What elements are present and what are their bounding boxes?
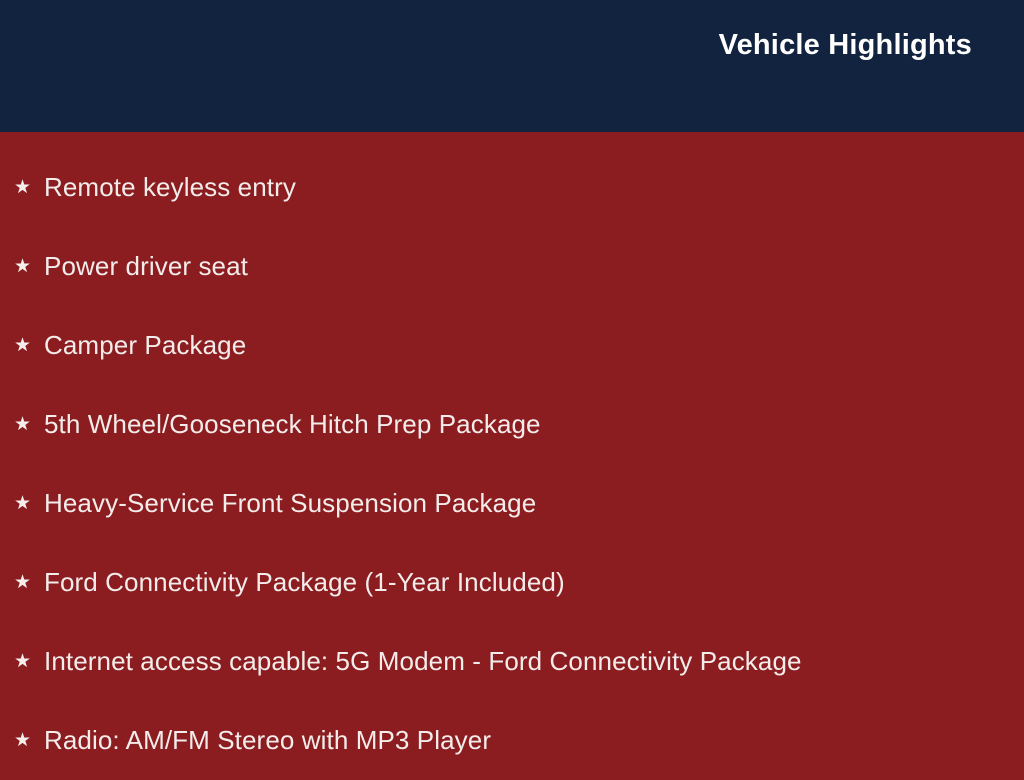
list-item: ★ Ford Connectivity Package (1-Year Incl… bbox=[0, 543, 1024, 622]
star-bullet-icon: ★ bbox=[14, 652, 44, 671]
list-item: ★ Remote keyless entry bbox=[0, 148, 1024, 227]
vehicle-highlights-slide: Vehicle Highlights ★ Remote keyless entr… bbox=[0, 0, 1024, 768]
page-title: Vehicle Highlights bbox=[719, 30, 972, 62]
star-bullet-icon: ★ bbox=[14, 336, 44, 355]
star-bullet-icon: ★ bbox=[14, 415, 44, 434]
list-item: ★ Camper Package bbox=[0, 306, 1024, 385]
star-bullet-icon: ★ bbox=[14, 257, 44, 276]
list-item-label: Camper Package bbox=[44, 331, 1024, 361]
list-item: ★ Heavy-Service Front Suspension Package bbox=[0, 464, 1024, 543]
list-item-label: Ford Connectivity Package (1-Year Includ… bbox=[44, 568, 1024, 598]
slide-body: ★ Remote keyless entry ★ Power driver se… bbox=[0, 132, 1024, 780]
list-item: ★ 5th Wheel/Gooseneck Hitch Prep Package bbox=[0, 385, 1024, 464]
slide-header: Vehicle Highlights bbox=[0, 0, 1024, 132]
list-item-label: Internet access capable: 5G Modem - Ford… bbox=[44, 647, 1024, 677]
list-item-label: Radio: AM/FM Stereo with MP3 Player bbox=[44, 726, 1024, 756]
star-bullet-icon: ★ bbox=[14, 494, 44, 513]
list-item: ★ Radio: AM/FM Stereo with MP3 Player bbox=[0, 701, 1024, 780]
list-item: ★ Internet access capable: 5G Modem - Fo… bbox=[0, 622, 1024, 701]
vehicle-highlights-list: ★ Remote keyless entry ★ Power driver se… bbox=[0, 148, 1024, 780]
list-item: ★ Power driver seat bbox=[0, 227, 1024, 306]
list-item-label: Power driver seat bbox=[44, 252, 1024, 282]
list-item-label: 5th Wheel/Gooseneck Hitch Prep Package bbox=[44, 410, 1024, 440]
list-item-label: Heavy-Service Front Suspension Package bbox=[44, 489, 1024, 519]
star-bullet-icon: ★ bbox=[14, 731, 44, 750]
list-item-label: Remote keyless entry bbox=[44, 173, 1024, 203]
star-bullet-icon: ★ bbox=[14, 178, 44, 197]
star-bullet-icon: ★ bbox=[14, 573, 44, 592]
